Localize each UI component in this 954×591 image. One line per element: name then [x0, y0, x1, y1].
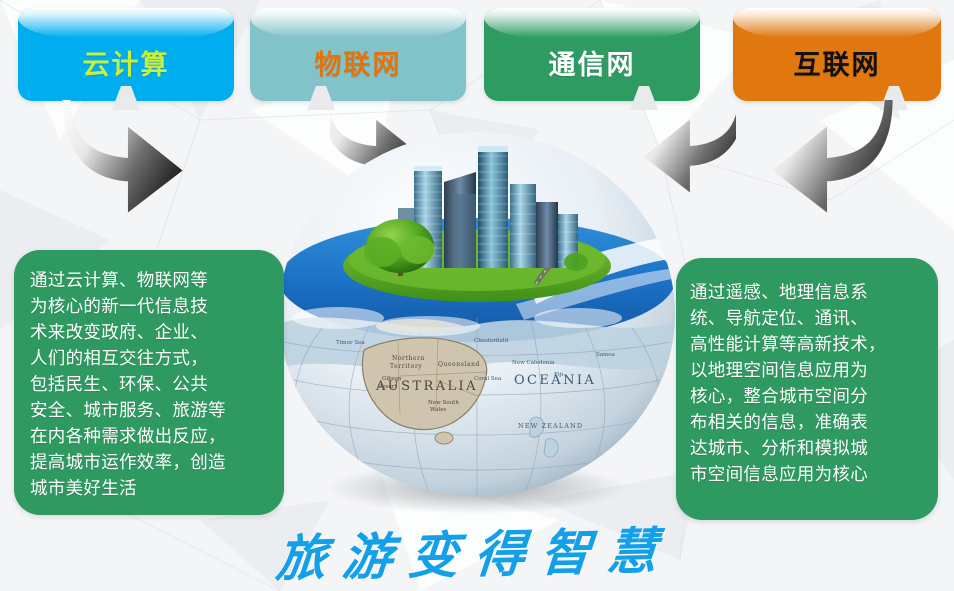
- arrow-from-cloud-computing: [60, 100, 290, 220]
- panel-right-text: 通过遥感、地理信息系 统、导航定位、通讯、 高性能计算等高新技术， 以地理空间信…: [690, 280, 928, 488]
- svg-text:Coral Sea: Coral Sea: [474, 376, 502, 382]
- top-box-internet-of-things[interactable]: 物联网: [250, 8, 466, 101]
- svg-text:Territory: Territory: [390, 363, 422, 370]
- svg-text:New South: New South: [428, 400, 459, 406]
- svg-text:Samoa: Samoa: [596, 352, 616, 358]
- top-box-label-internet-of-things: 物联网: [250, 24, 466, 101]
- svg-text:NEW ZEALAND: NEW ZEALAND: [518, 422, 583, 430]
- svg-text:Fiji: Fiji: [554, 372, 563, 378]
- globe-city-illustration: AUSTRALIA OCEANIA NEW ZEALAND Northern T…: [278, 128, 676, 528]
- top-box-communication-network[interactable]: 通信网: [484, 8, 700, 101]
- top-box-internet[interactable]: 互联网: [733, 8, 941, 101]
- svg-text:Wales: Wales: [430, 407, 446, 413]
- svg-text:Gibson: Gibson: [382, 376, 402, 382]
- panel-left-text: 通过云计算、物联网等 为核心的新一代信息技 术来改变政府、企业、 人们的相互交往…: [30, 268, 274, 502]
- panel-right-geospatial: 通过遥感、地理信息系 统、导航定位、通讯、 高性能计算等高新技术， 以地理空间信…: [676, 258, 938, 520]
- svg-text:Chesterfield: Chesterfield: [474, 338, 509, 344]
- panel-left-smart-city: 通过云计算、物联网等 为核心的新一代信息技 术来改变政府、企业、 人们的相互交往…: [14, 250, 284, 515]
- caption-slogan: 旅游变得智慧: [252, 513, 698, 588]
- top-box-label-internet: 互联网: [733, 24, 941, 101]
- svg-text:New Caledonia: New Caledonia: [512, 360, 555, 366]
- svg-text:Timor Sea: Timor Sea: [336, 340, 365, 346]
- top-box-label-communication-network: 通信网: [484, 24, 700, 101]
- slide-canvas: 云计算 物联网 通信网 互联网: [0, 0, 954, 591]
- svg-text:Northern: Northern: [392, 355, 425, 362]
- arrow-from-internet: [665, 100, 895, 220]
- svg-text:Desert: Desert: [378, 384, 397, 390]
- svg-text:Queensland: Queensland: [438, 361, 480, 368]
